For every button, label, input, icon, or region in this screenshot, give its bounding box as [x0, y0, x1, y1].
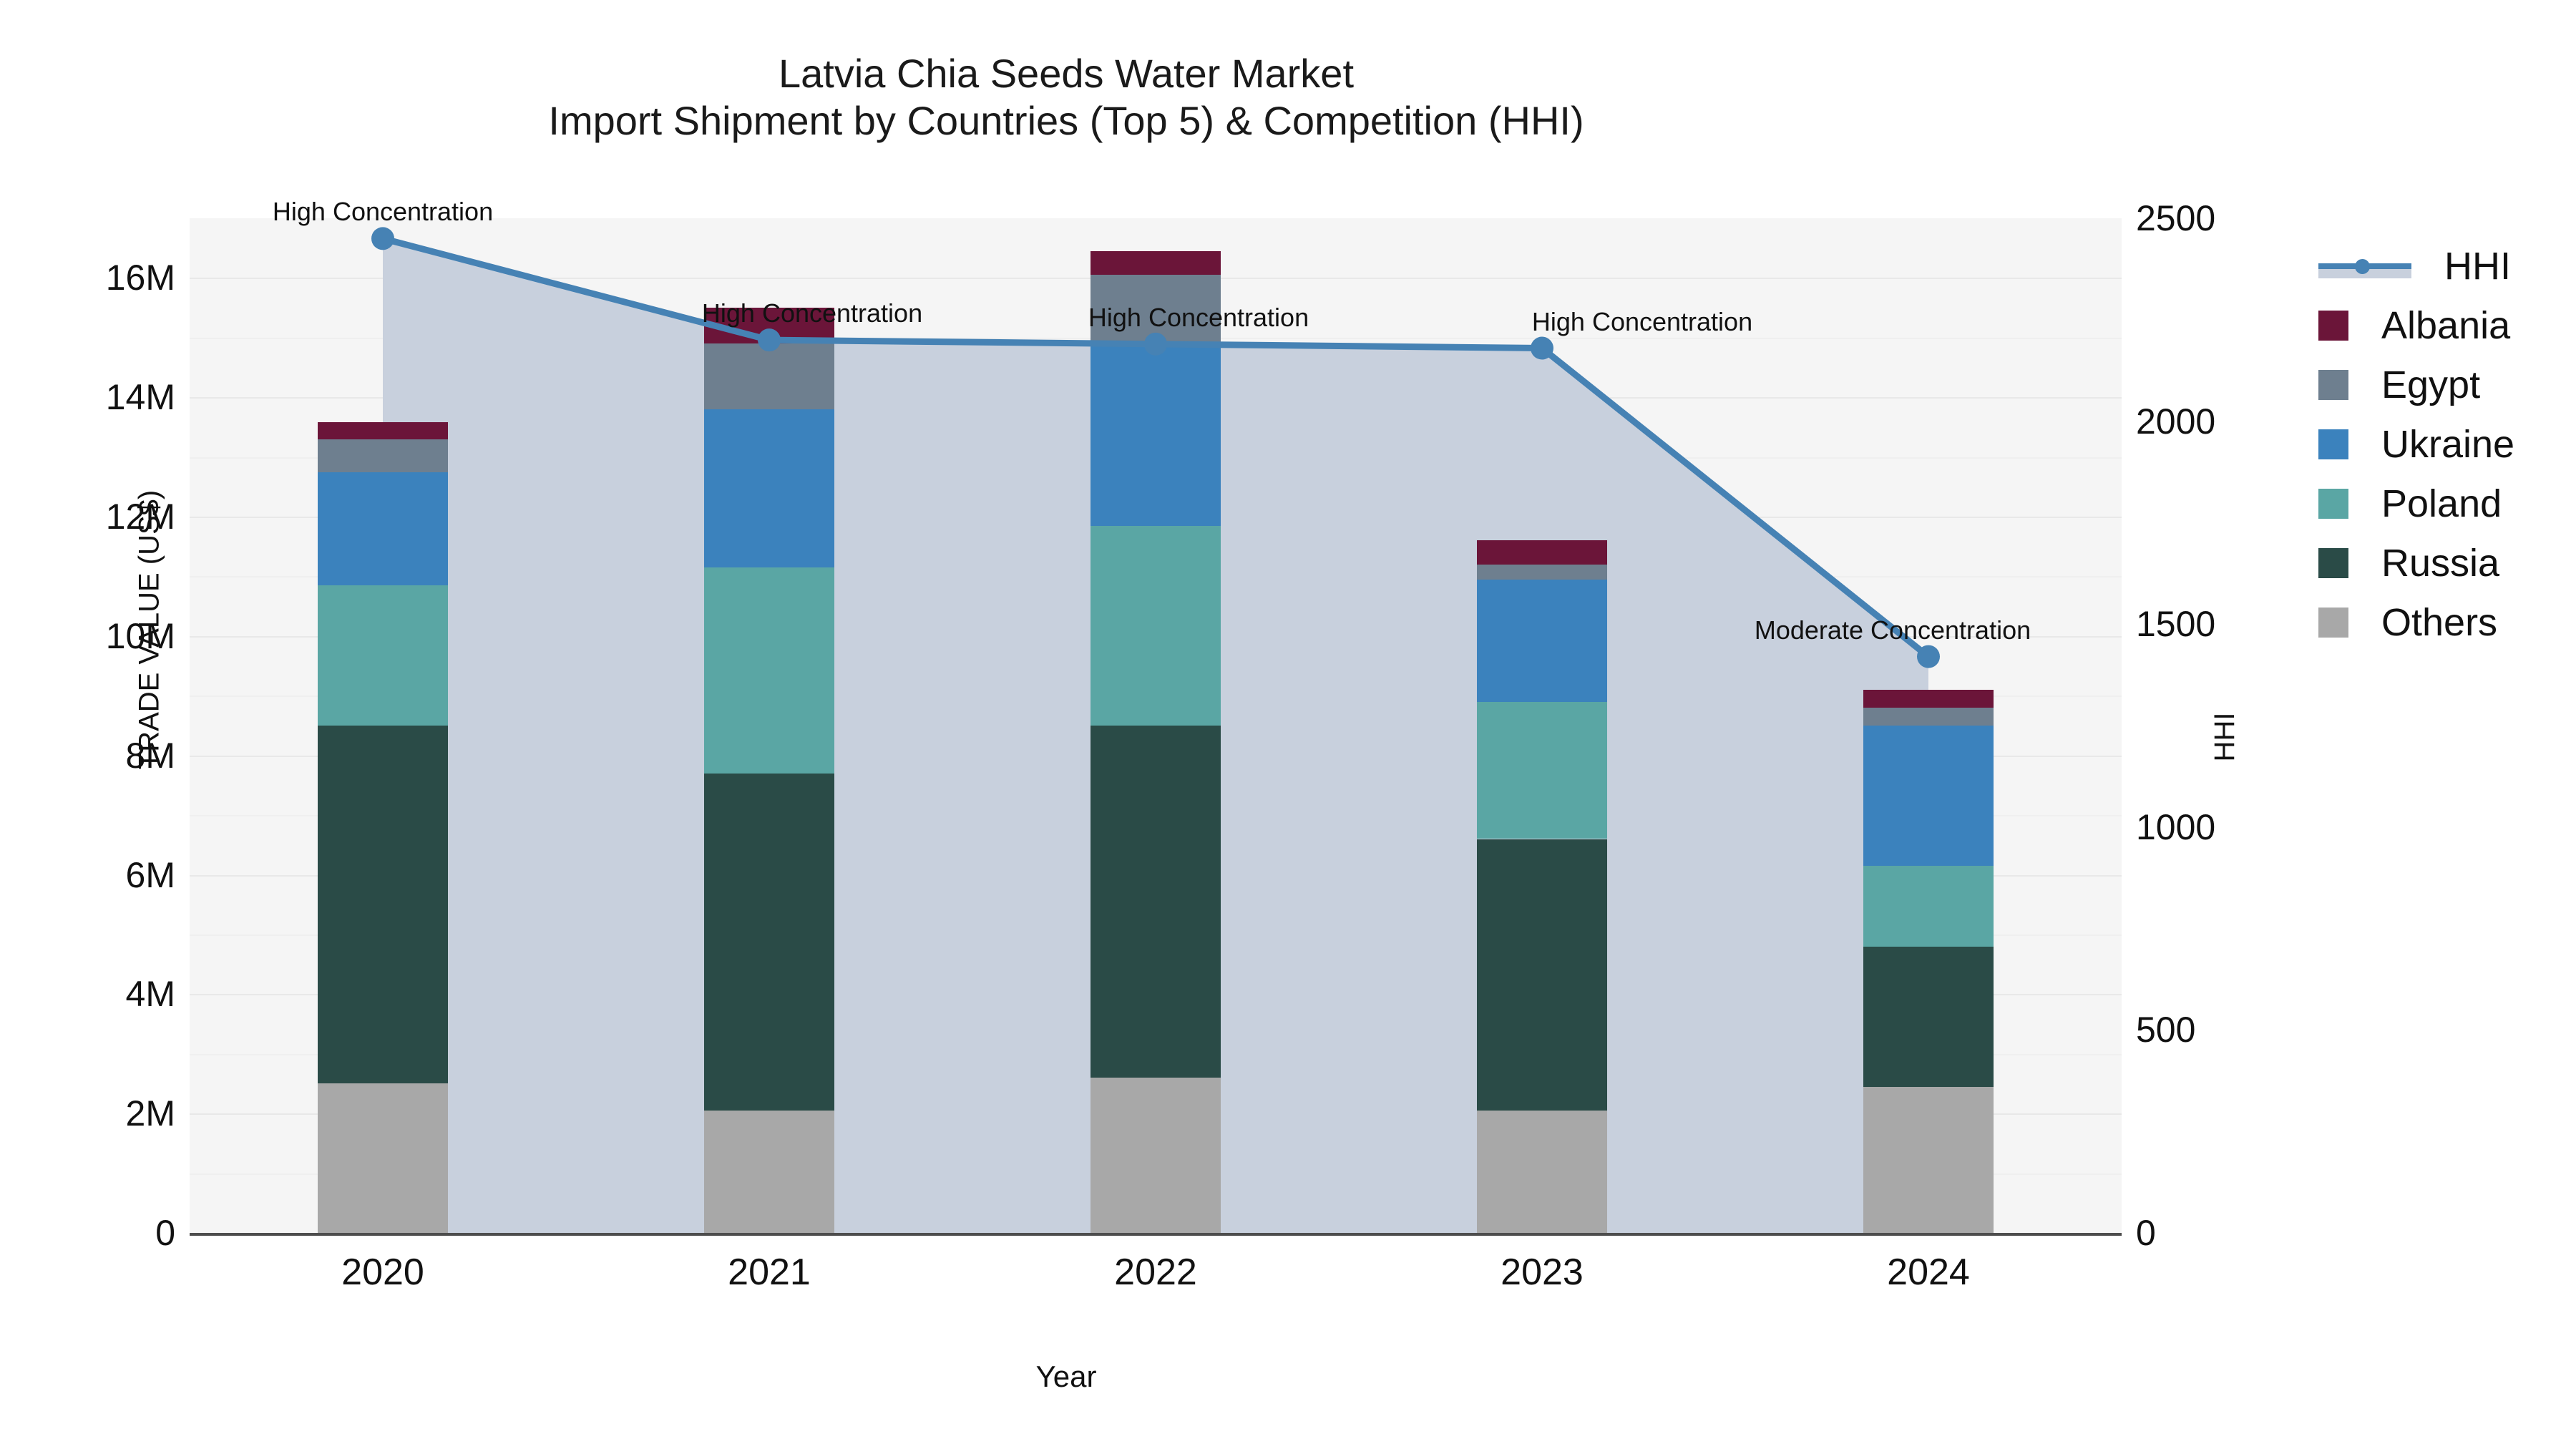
legend-item-albania[interactable]: Albania — [2318, 296, 2514, 355]
legend-item-russia[interactable]: Russia — [2318, 533, 2514, 592]
y-tick-right: 1500 — [2136, 603, 2215, 645]
hhi-point-2024[interactable] — [1917, 645, 1940, 668]
legend-swatch-egypt — [2318, 370, 2348, 400]
hhi-point-2023[interactable] — [1531, 337, 1553, 360]
plot-area — [190, 218, 2122, 1233]
y-tick-right: 2500 — [2136, 197, 2215, 239]
legend-item-hhi[interactable]: HHI — [2318, 236, 2514, 296]
legend-label: Egypt — [2381, 363, 2480, 407]
legend-item-others[interactable]: Others — [2318, 592, 2514, 652]
y-tick-left: 4M — [0, 973, 175, 1015]
legend-dot-icon — [2355, 259, 2370, 274]
legend-item-poland[interactable]: Poland — [2318, 474, 2514, 533]
hhi-point-2022[interactable] — [1144, 333, 1167, 356]
x-tick-2021: 2021 — [728, 1251, 811, 1294]
legend-swatch-russia — [2318, 548, 2348, 578]
annotation-2023: High Concentration — [1532, 307, 1752, 337]
legend-line-marker-icon — [2318, 251, 2411, 281]
x-tick-2024: 2024 — [1887, 1251, 1970, 1294]
legend-label: Others — [2381, 600, 2497, 645]
legend-label: HHI — [2444, 244, 2511, 288]
legend-label: Russia — [2381, 541, 2499, 585]
legend-swatch-others — [2318, 608, 2348, 638]
legend-label: Albania — [2381, 303, 2510, 348]
legend-swatch-albania — [2318, 311, 2348, 341]
annotation-2021: High Concentration — [702, 298, 922, 328]
annotation-2024: Moderate Concentration — [1755, 615, 2031, 645]
x-axis-title: Year — [0, 1360, 2132, 1394]
y-tick-right: 2000 — [2136, 401, 2215, 442]
legend-item-ukraine[interactable]: Ukraine — [2318, 414, 2514, 474]
legend-swatch-ukraine — [2318, 429, 2348, 459]
x-axis-line — [190, 1233, 2122, 1236]
y-tick-left: 14M — [0, 376, 175, 418]
y-tick-left: 6M — [0, 854, 175, 896]
legend-swatch-poland — [2318, 489, 2348, 519]
hhi-polyline — [383, 238, 1928, 656]
y-tick-right: 1000 — [2136, 806, 2215, 848]
legend: HHIAlbaniaEgyptUkrainePolandRussiaOthers — [2318, 236, 2514, 652]
y-axis-left-title: TRADE VALUE (US$) — [134, 490, 166, 769]
title-line-2: Import Shipment by Countries (Top 5) & C… — [0, 97, 2132, 145]
y-tick-left: 0 — [0, 1212, 175, 1254]
annotation-2022: High Concentration — [1088, 303, 1309, 333]
x-tick-2022: 2022 — [1114, 1251, 1197, 1294]
y-tick-right: 500 — [2136, 1009, 2195, 1050]
hhi-point-2021[interactable] — [758, 328, 781, 351]
x-tick-2023: 2023 — [1501, 1251, 1584, 1294]
y-axis-right-title: HHI — [2209, 713, 2241, 762]
legend-label: Ukraine — [2381, 422, 2514, 467]
y-tick-right: 0 — [2136, 1212, 2156, 1254]
legend-label: Poland — [2381, 482, 2502, 526]
hhi-point-2020[interactable] — [371, 227, 394, 250]
title-line-1: Latvia Chia Seeds Water Market — [0, 50, 2132, 97]
annotation-2020: High Concentration — [273, 197, 493, 227]
x-tick-2020: 2020 — [341, 1251, 424, 1294]
legend-item-egypt[interactable]: Egypt — [2318, 355, 2514, 414]
chart-root: Latvia Chia Seeds Water Market Import Sh… — [0, 0, 2576, 1449]
y-tick-left: 2M — [0, 1093, 175, 1134]
chart-title: Latvia Chia Seeds Water Market Import Sh… — [0, 50, 2132, 145]
y-tick-left: 16M — [0, 257, 175, 298]
